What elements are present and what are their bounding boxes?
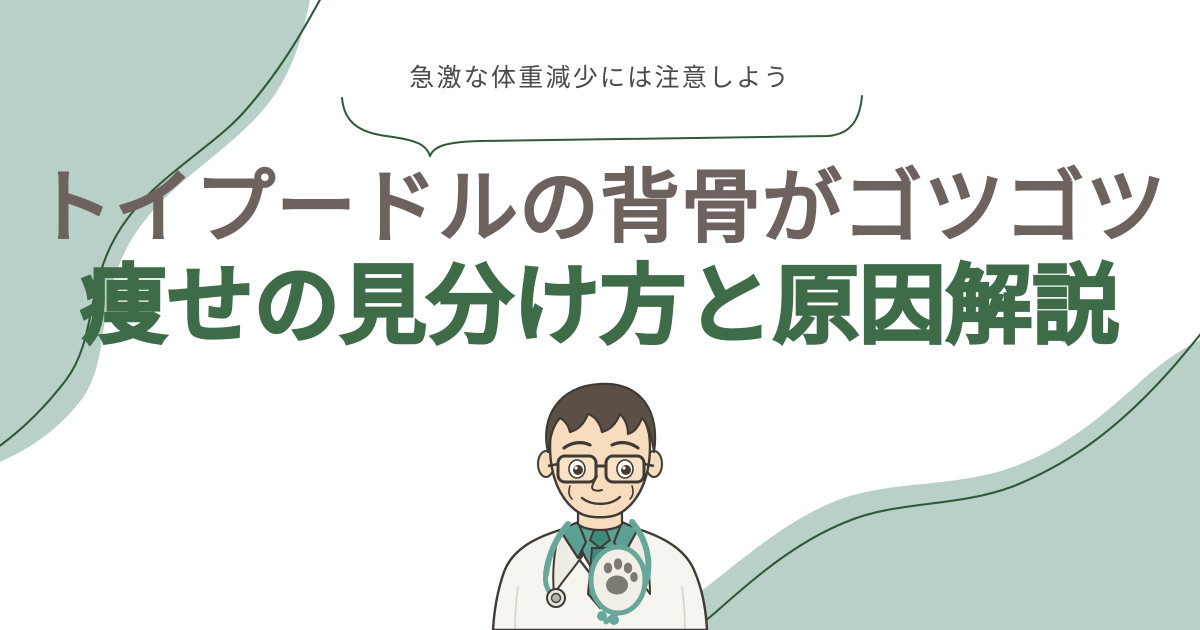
veterinarian-illustration	[482, 372, 718, 630]
title-line-2: 痩せの見分け方と原因解説	[0, 256, 1200, 356]
title-line-1: トイプードルの背骨がゴツゴツ	[0, 160, 1200, 256]
head	[538, 384, 662, 517]
page-title: トイプードルの背骨がゴツゴツ 痩せの見分け方と原因解説	[0, 160, 1200, 356]
subtitle-text: 急激な体重減少には注意しよう	[0, 58, 1200, 94]
sage-blob-bottom-right	[640, 340, 1200, 630]
blog-header-banner: 急激な体重減少には注意しよう トイプードルの背骨がゴツゴツ 痩せの見分け方と原因…	[0, 0, 1200, 630]
brace-underline-icon	[330, 94, 870, 160]
s-curve-bottom-right	[690, 330, 1200, 630]
subtitle-block: 急激な体重減少には注意しよう	[0, 58, 1200, 163]
